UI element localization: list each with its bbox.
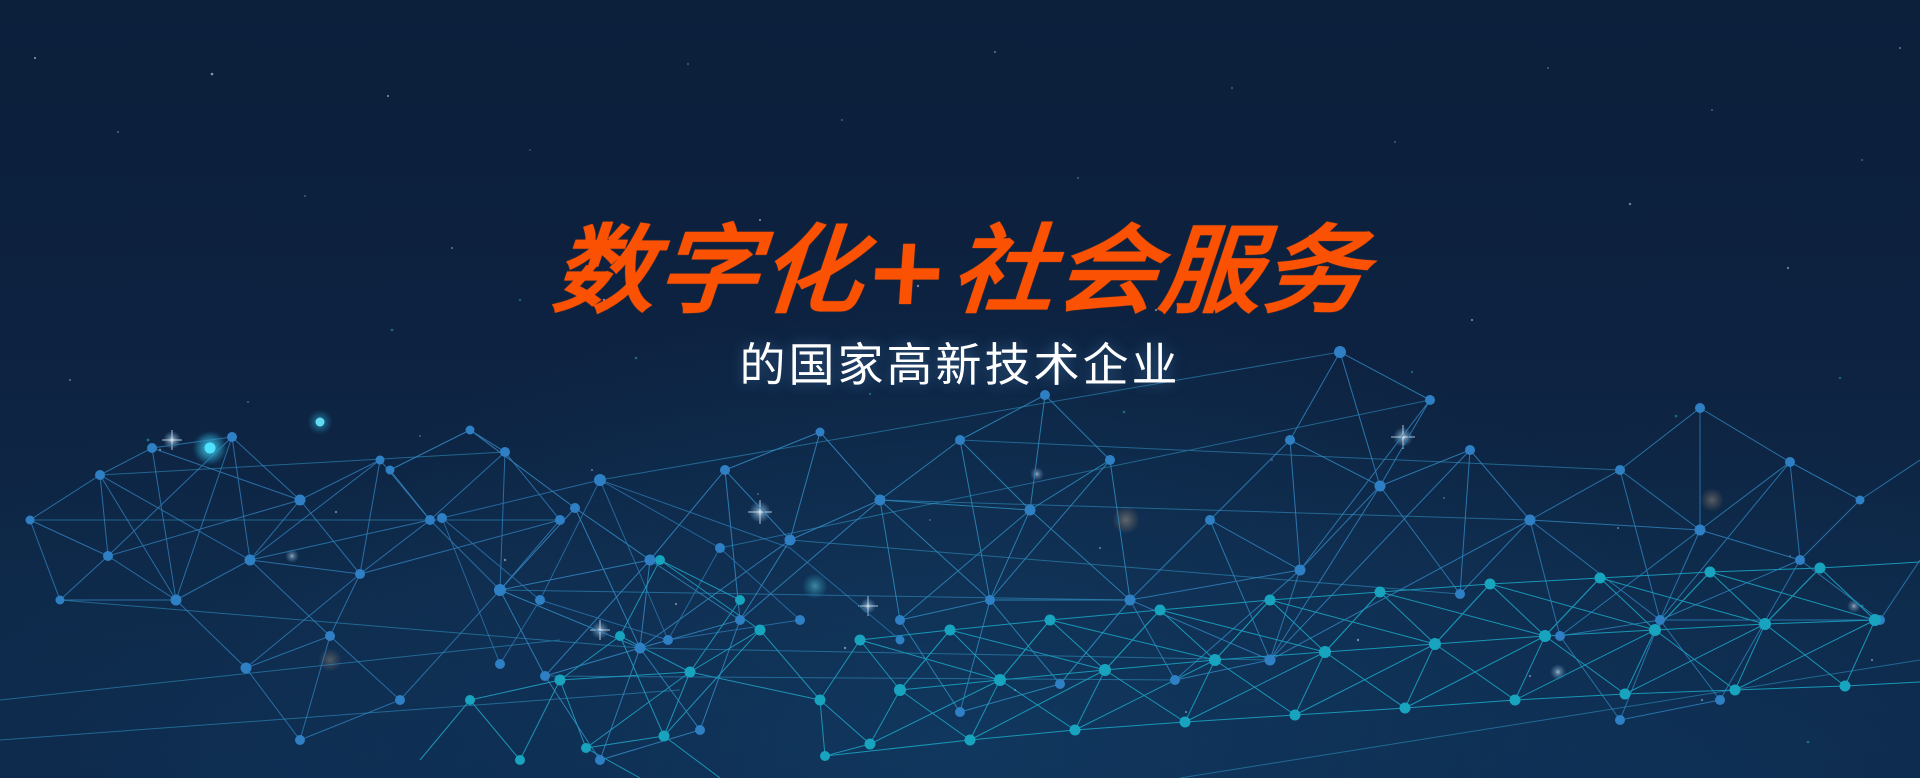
mesh-node-blue: [26, 346, 1886, 765]
polygon-network-mesh: [0, 0, 1920, 778]
mesh-group-right-center: [1130, 352, 1530, 680]
mesh-group-left: [30, 437, 560, 740]
mesh-group-right: [1530, 408, 1920, 720]
mesh-node-cyan: [465, 555, 1881, 765]
star-dots-small: [34, 47, 1901, 713]
mesh-group-left-center: [390, 430, 880, 760]
mesh-group-bottom-mid: [420, 560, 870, 778]
mesh-long-connectors: [0, 352, 1920, 778]
mesh-group-top-left-pyramid: [442, 480, 900, 664]
star-glow-points: [163, 427, 1861, 680]
star-dots-teal: [147, 299, 1864, 744]
banner-subheadline: 的国家高新技术企业: [740, 338, 1181, 393]
mesh-group-bottom-dense: [820, 562, 1920, 756]
banner-headline: 数字化+社会服务: [549, 222, 1371, 322]
mesh-group-center: [880, 395, 1130, 712]
starfield-particles: [0, 0, 1920, 778]
banner-content: 数字化+社会服务 的国家高新技术企业: [0, 0, 1920, 778]
node-glow-highlight: [192, 409, 333, 466]
star-sparkle-icon: [162, 425, 1415, 640]
hero-banner: 数字化+社会服务 的国家高新技术企业: [0, 0, 1920, 778]
